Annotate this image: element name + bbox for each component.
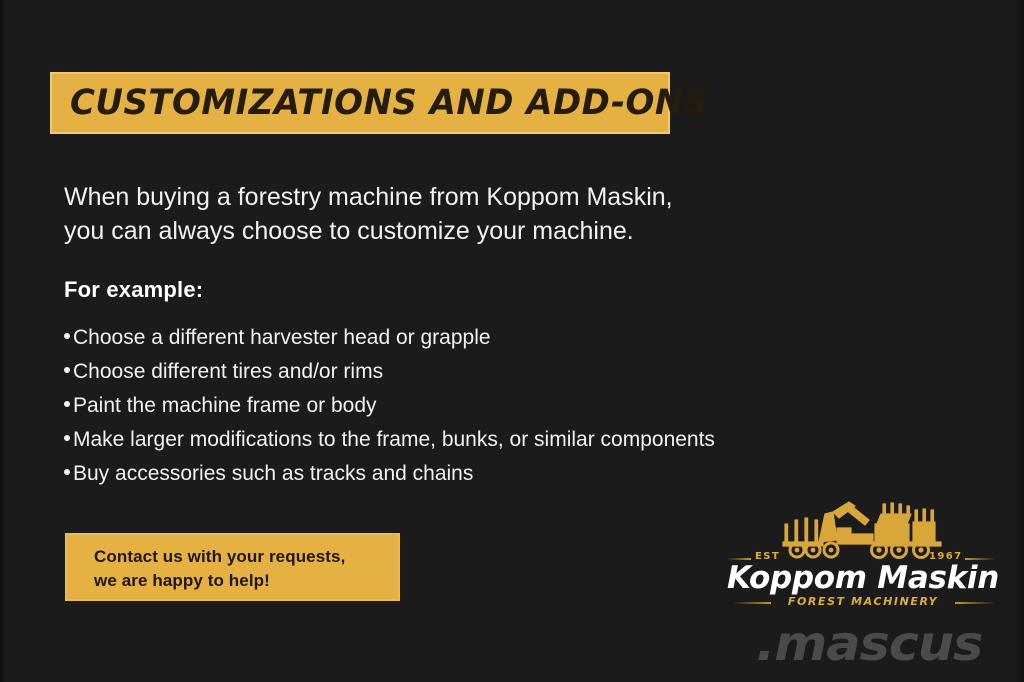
list-item-label: Buy accessories such as tracks and chain… — [73, 462, 473, 485]
title-banner: CUSTOMIZATIONS AND ADD-ONS — [50, 72, 670, 134]
list-item-label: Make larger modifications to the frame, … — [73, 428, 715, 451]
list-item: Choose a different harvester head or gra… — [64, 321, 944, 355]
logo-company-name: Koppom Maskin — [727, 560, 999, 596]
bullet-dot-icon — [64, 367, 70, 373]
bullet-dot-icon — [64, 469, 70, 475]
intro-line-2: you can always choose to customize your … — [64, 214, 824, 248]
cta-line-1: Contact us with your requests, — [94, 545, 398, 569]
for-example-heading: For example: — [64, 277, 203, 303]
cta-line-2: we are happy to help! — [94, 569, 398, 593]
logo-tagline-row: FOREST MACHINERY — [727, 595, 999, 609]
mascus-watermark: .mascus — [756, 616, 982, 672]
customization-options-list: Choose a different harvester head or gra… — [64, 321, 944, 491]
intro-paragraph: When buying a forestry machine from Kopp… — [64, 180, 824, 248]
list-item: Make larger modifications to the frame, … — [64, 423, 944, 457]
promo-slide: CUSTOMIZATIONS AND ADD-ONS When buying a… — [0, 0, 1024, 682]
list-item: Paint the machine frame or body — [64, 389, 944, 423]
logo-tagline-rule-right — [955, 602, 995, 604]
list-item-label: Choose different tires and/or rims — [73, 360, 383, 383]
bullet-dot-icon — [64, 401, 70, 407]
list-item: Buy accessories such as tracks and chain… — [64, 457, 944, 491]
bullet-dot-icon — [64, 435, 70, 441]
list-item: Choose different tires and/or rims — [64, 355, 944, 389]
page-title: CUSTOMIZATIONS AND ADD-ONS — [70, 83, 709, 123]
list-item-label: Paint the machine frame or body — [73, 394, 377, 417]
contact-cta-box[interactable]: Contact us with your requests, we are ha… — [65, 533, 400, 601]
intro-line-1: When buying a forestry machine from Kopp… — [64, 180, 824, 214]
koppom-maskin-logo: EST 1967 Koppom Maskin FOREST MACHINERY — [727, 498, 999, 606]
list-item-label: Choose a different harvester head or gra… — [73, 326, 491, 349]
bullet-dot-icon — [64, 333, 70, 339]
